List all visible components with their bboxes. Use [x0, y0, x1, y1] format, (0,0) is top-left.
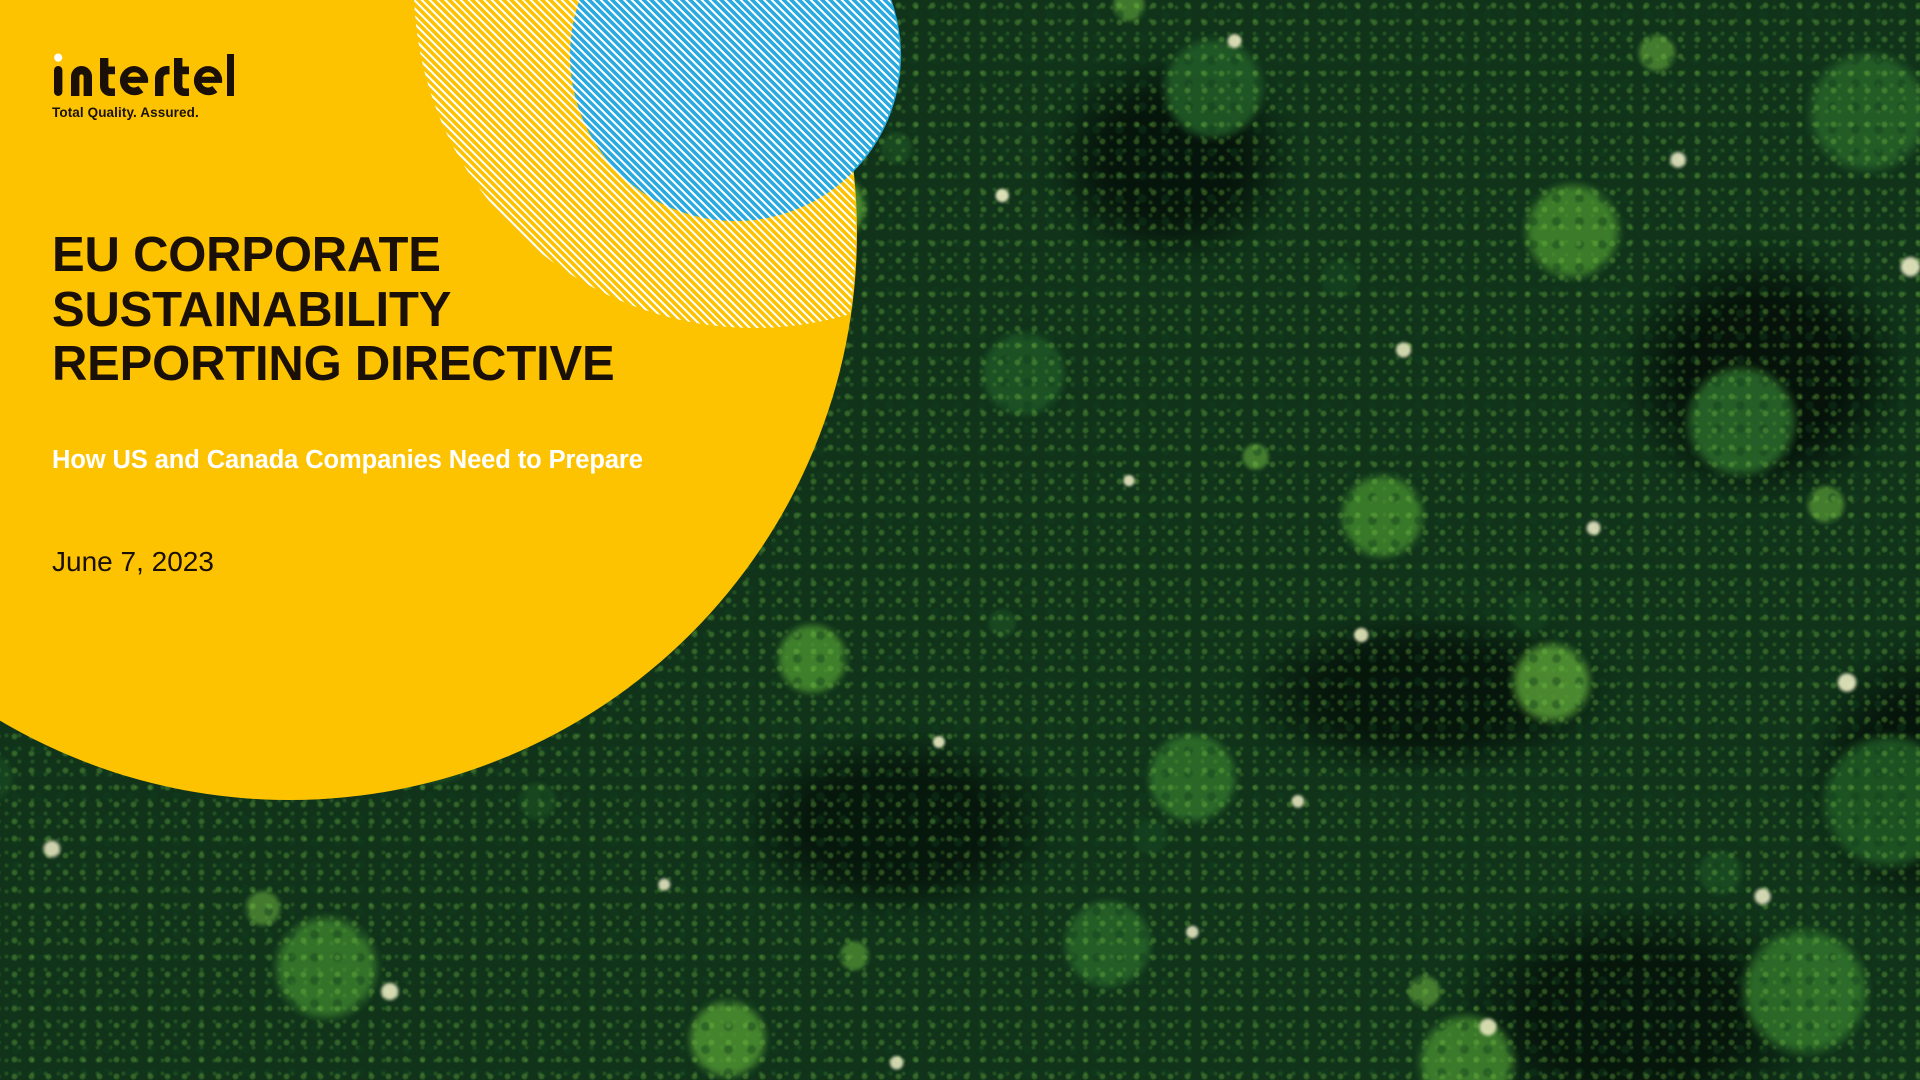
- slide-subtitle: How US and Canada Companies Need to Prep…: [52, 446, 643, 475]
- title-line-1: EU CORPORATE: [52, 228, 812, 283]
- intertek-logo[interactable]: Total Quality. Assured.: [52, 52, 234, 120]
- intertek-tagline: Total Quality. Assured.: [52, 105, 234, 120]
- slide-content: Total Quality. Assured. EU CORPORATE SUS…: [0, 0, 1920, 1080]
- title-line-2: SUSTAINABILITY: [52, 283, 812, 338]
- title-line-3: REPORTING DIRECTIVE: [52, 337, 812, 392]
- intertek-logo-dot-icon: [54, 54, 62, 62]
- slide-title: EU CORPORATE SUSTAINABILITY REPORTING DI…: [52, 228, 812, 392]
- intertek-wordmark-icon: [52, 52, 234, 98]
- title-slide: Total Quality. Assured. EU CORPORATE SUS…: [0, 0, 1920, 1080]
- slide-date: June 7, 2023: [52, 546, 214, 578]
